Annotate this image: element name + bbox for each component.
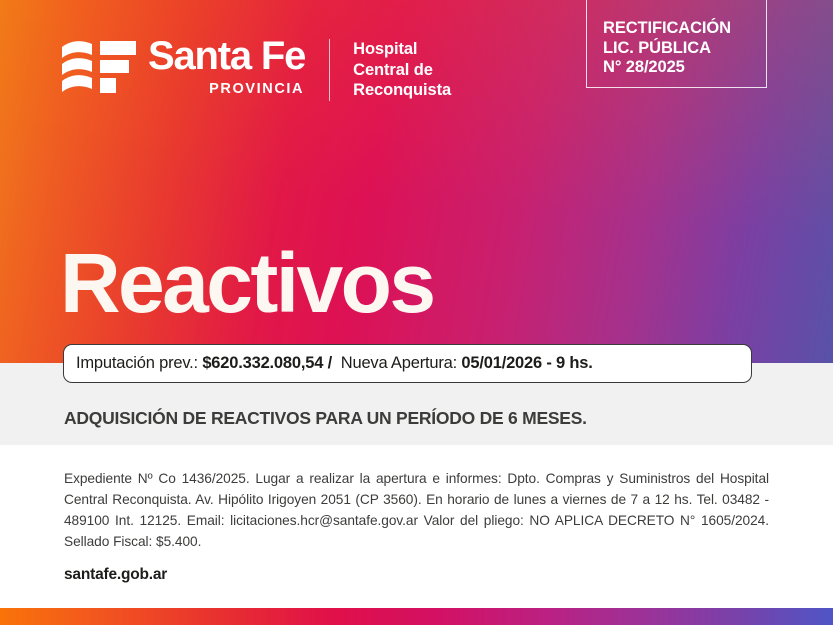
logo-name: Santa Fe <box>148 36 305 76</box>
imputacion-value: $620.332.080,54 <box>202 354 323 372</box>
info-pill-text: Imputación prev.: $620.332.080,54 / Nuev… <box>76 354 593 373</box>
logo-subname: PROVINCIA <box>209 80 304 98</box>
page-title: Reactivos <box>60 237 433 329</box>
bottom-gradient-bar <box>0 608 833 625</box>
logo-divider <box>329 39 330 101</box>
imputacion-label: Imputación prev.: <box>76 354 198 372</box>
santa-fe-flag-icon <box>62 39 136 97</box>
rectification-badge: RECTIFICACIÓN LIC. PÚBLICA N° 28/2025 <box>586 0 767 88</box>
pill-separator: / <box>328 354 332 372</box>
footer-website-url[interactable]: santafe.gob.ar <box>64 566 167 584</box>
subtitle: ADQUISICIÓN DE REACTIVOS PARA UN PERÍODO… <box>64 408 587 429</box>
apertura-label: Nueva Apertura: <box>341 354 457 372</box>
rectification-badge-text: RECTIFICACIÓN LIC. PÚBLICA N° 28/2025 <box>603 19 731 78</box>
info-pill: Imputación prev.: $620.332.080,54 / Nuev… <box>63 344 752 383</box>
body-copy: Expediente Nº Co 1436/2025. Lugar a real… <box>64 468 769 552</box>
logo-wordmark: Santa Fe PROVINCIA <box>148 36 305 98</box>
organization-name: Hospital Central de Reconquista <box>353 39 451 101</box>
santa-fe-logo: Santa Fe PROVINCIA Hospital Central de R… <box>62 36 451 101</box>
poster-canvas: Santa Fe PROVINCIA Hospital Central de R… <box>0 0 833 625</box>
apertura-value: 05/01/2026 - 9 hs. <box>461 354 592 372</box>
